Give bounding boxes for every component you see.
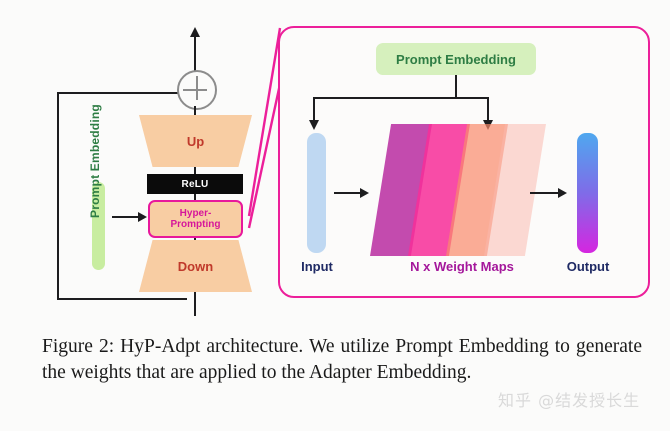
add-operator-icon — [177, 70, 217, 110]
prompt-embedding-arrow-line — [112, 216, 139, 218]
output-arrow-head — [558, 188, 567, 198]
fanout-left-arrow-head — [309, 120, 319, 130]
watermark: 知乎 @结发授长生 — [498, 387, 640, 411]
output-arrow-line — [530, 192, 560, 194]
residual-bottom-line — [57, 298, 187, 300]
block-hyper-prompting-label: Hyper- Prompting — [171, 208, 221, 231]
figure-caption: Figure 2: HyP-Adpt architecture. We util… — [42, 334, 642, 386]
hyper-prompting-detail-panel: Prompt Embedding Input N x Weight Maps O… — [278, 26, 650, 298]
output-label: Output — [549, 259, 627, 274]
fanout-horizontal-line — [313, 97, 489, 99]
fanout-right-drop-line — [487, 97, 489, 122]
block-relu[interactable]: ReLU — [147, 174, 243, 194]
residual-connection-line — [57, 92, 59, 300]
figure-page: Up ReLU Hyper- Prompting Down Prompt Emb… — [0, 0, 670, 431]
input-arrow-head — [360, 188, 369, 198]
input-arrow-line — [334, 192, 362, 194]
block-down[interactable]: Down — [139, 240, 252, 292]
adapter-output-line — [194, 34, 196, 72]
residual-top-line — [57, 92, 187, 94]
fanout-stem-line — [455, 75, 457, 98]
block-up[interactable]: Up — [139, 115, 252, 167]
block-hyper-prompting[interactable]: Hyper- Prompting — [148, 200, 243, 238]
prompt-embedding-vertical-label: Prompt Embedding — [88, 86, 102, 236]
output-bar — [577, 133, 598, 253]
figure-canvas: Up ReLU Hyper- Prompting Down Prompt Emb… — [0, 0, 670, 322]
weight-maps-label: N x Weight Maps — [357, 259, 567, 274]
prompt-embedding-box[interactable]: Prompt Embedding — [376, 43, 536, 75]
input-bar — [307, 133, 326, 253]
fanout-left-drop-line — [313, 97, 315, 122]
adapter-diagram: Up ReLU Hyper- Prompting Down Prompt Emb… — [42, 82, 267, 300]
trunk-segment-down-to-input — [194, 290, 196, 316]
adapter-output-arrow-head — [190, 27, 200, 37]
input-label: Input — [283, 259, 351, 274]
prompt-embedding-arrow-head — [138, 212, 147, 222]
weight-maps-stack — [370, 124, 555, 256]
